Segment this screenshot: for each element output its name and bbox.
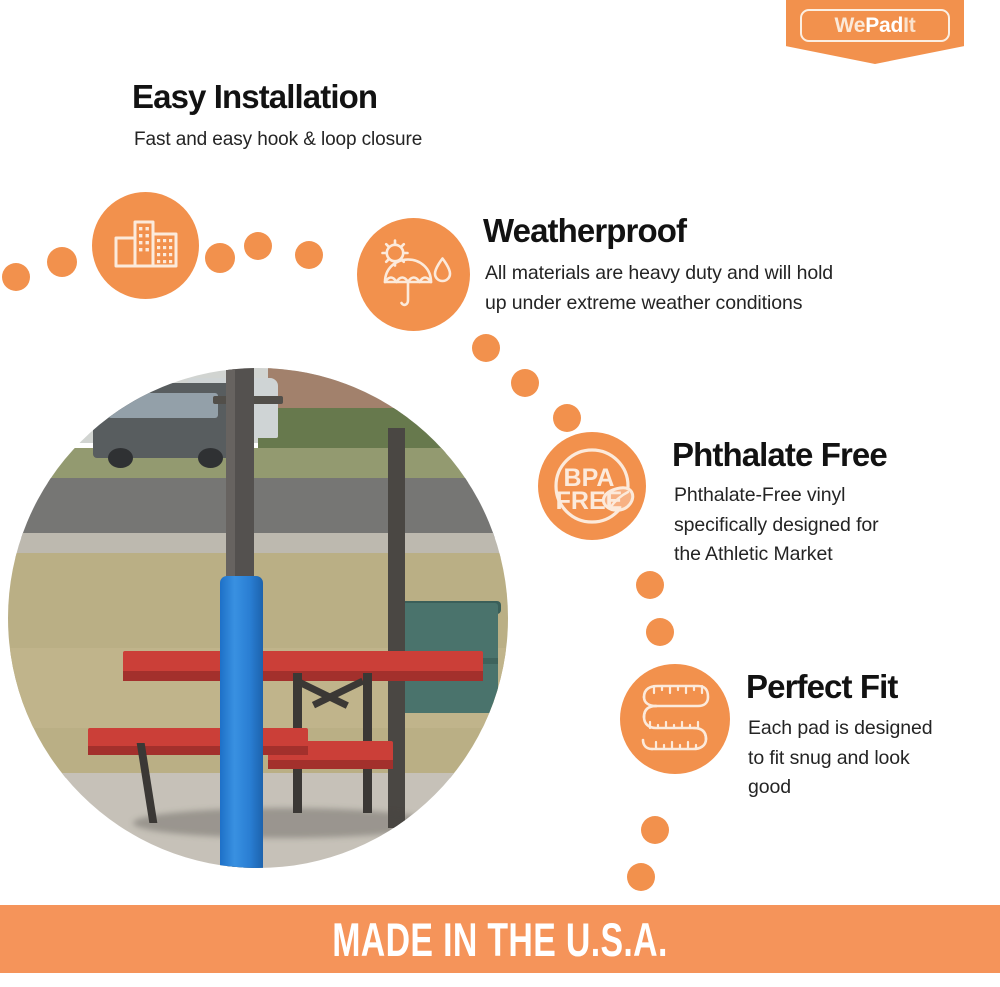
bpa-free-leaf-icon: BPA FREE [542,436,642,536]
feature-desc-line: specifically designed for [674,511,879,541]
feature-desc-line: All materials are heavy duty and will ho… [485,258,833,288]
trail-dot [295,241,323,269]
product-photo [8,368,508,868]
feature-desc-line: to fit snug and look [748,744,932,774]
infographic-canvas: WePadIt Easy Installation Fast and easy … [0,0,1000,987]
feature-desc-easy-installation: Fast and easy hook & loop closure [134,126,422,154]
feature-desc-line: Phthalate-Free vinyl [674,481,879,511]
trail-dot [627,863,655,891]
feature-title-easy-installation: Easy Installation [132,80,377,115]
trail-dot [472,334,500,362]
feature-desc-phthalate-free: Phthalate-Free vinyl specifically design… [674,481,879,570]
logo-text-pad: Pad [865,15,903,36]
product-photo-scene [8,368,508,868]
feature-icon-weatherproof [357,218,470,331]
feature-title-weatherproof: Weatherproof [483,214,686,249]
logo-text-it: It [903,15,915,36]
feature-desc-line: up under extreme weather conditions [485,288,833,318]
trail-dot [205,243,235,273]
trail-dot [244,232,272,260]
trail-dot [641,816,669,844]
feature-title-perfect-fit: Perfect Fit [746,670,897,705]
trail-dot [553,404,581,432]
made-in-usa-banner: MADE IN THE U.S.A. [0,905,1000,973]
feature-desc-line: Each pad is designed [748,714,932,744]
sun-umbrella-rain-icon [375,238,453,312]
feature-icon-perfect-fit [620,664,730,774]
feature-desc-weatherproof: All materials are heavy duty and will ho… [485,258,833,318]
logo-text-we: We [834,15,865,36]
bpa-icon-line2: FREE [556,487,623,515]
brand-logo-frame: WePadIt [800,9,950,42]
feature-icon-easy-installation [92,192,199,299]
feature-desc-line: the Athletic Market [674,540,879,570]
trail-dot [47,247,77,277]
feature-title-phthalate-free: Phthalate Free [672,438,887,473]
trail-dot [2,263,30,291]
measuring-tape-icon [636,679,714,759]
building-icon [113,216,179,276]
trail-dot [511,369,539,397]
feature-desc-perfect-fit: Each pad is designed to fit snug and loo… [748,714,932,803]
trail-dot [636,571,664,599]
trail-dot [646,618,674,646]
brand-logo-badge: WePadIt [786,0,964,64]
feature-icon-phthalate-free: BPA FREE [538,432,646,540]
banner-text: MADE IN THE U.S.A. [332,916,667,963]
feature-desc-line: Fast and easy hook & loop closure [134,126,422,154]
feature-desc-line: good [748,773,932,803]
